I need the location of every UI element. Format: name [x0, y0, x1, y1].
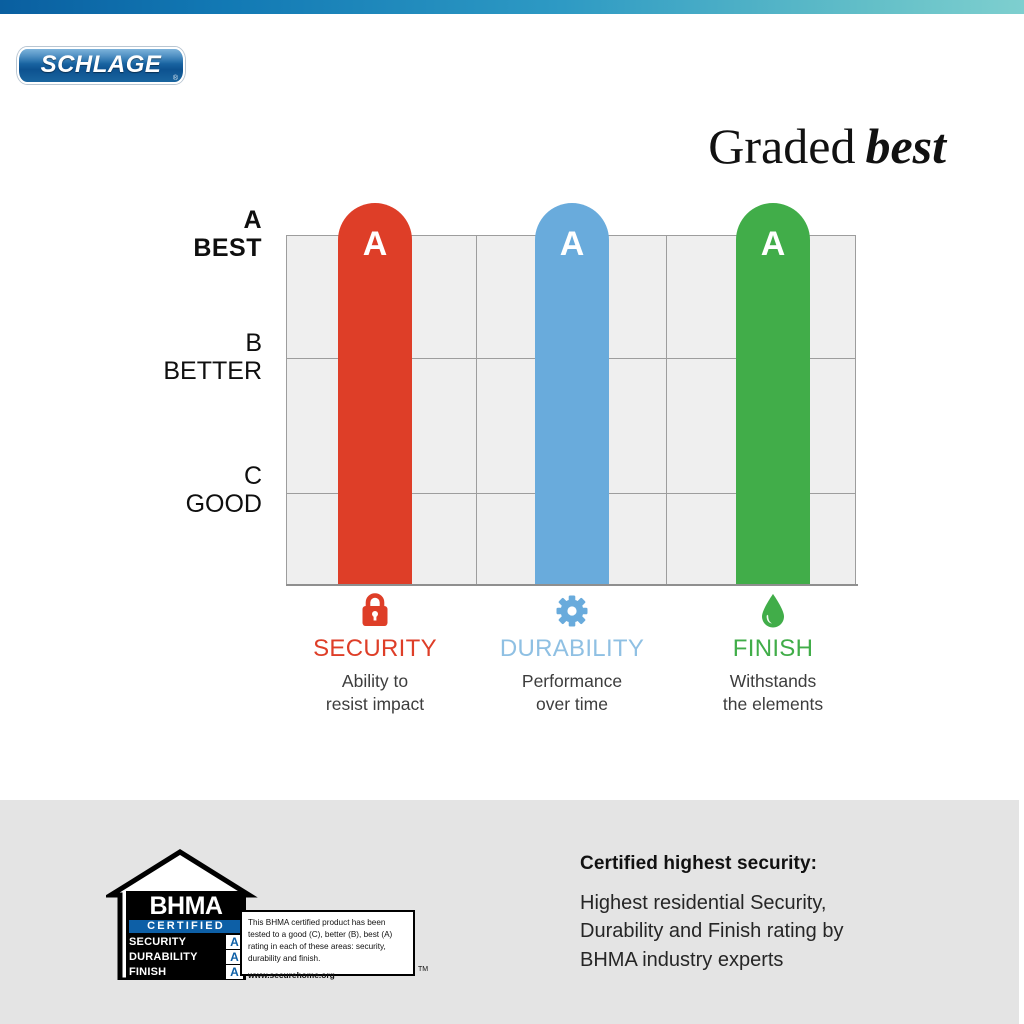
- y-axis-grade-c: C: [62, 462, 262, 490]
- footer-body-line1: Highest residential Security,: [580, 889, 980, 917]
- bhma-certified-mark: BHMA CERTIFIED SECURITY A DURABILITY A F…: [106, 848, 426, 980]
- bhma-wordmark: BHMA: [129, 894, 243, 919]
- bhma-trademark: TM: [418, 966, 428, 973]
- bar-durability: A: [535, 203, 609, 584]
- category-durability: DURABILITY Performance over time: [457, 591, 687, 717]
- y-axis-word-good: GOOD: [62, 490, 262, 518]
- water-drop-icon: [658, 591, 888, 631]
- bhma-row-finish: FINISH A: [129, 965, 243, 979]
- bhma-note-text: This BHMA certified product has been tes…: [248, 918, 392, 963]
- grid-line-vertical-6: [855, 235, 856, 584]
- footer-copy: Certified highest security: Highest resi…: [580, 853, 980, 974]
- category-finish-desc-line1: Withstands: [658, 670, 888, 693]
- padlock-icon: [260, 591, 490, 631]
- category-security-desc-line1: Ability to: [260, 670, 490, 693]
- grid-line-vertical-0: [286, 235, 287, 584]
- category-security-desc-line2: resist impact: [260, 693, 490, 716]
- grade-bar-chart: A BEST B BETTER C GOOD A A A: [0, 0, 1024, 800]
- y-axis-label-c: C GOOD: [62, 462, 262, 518]
- category-durability-title: DURABILITY: [457, 635, 687, 663]
- bhma-row-finish-label: FINISH: [129, 965, 226, 979]
- y-axis-grade-a: A: [62, 206, 262, 234]
- footer-body: Highest residential Security, Durability…: [580, 889, 980, 974]
- category-durability-desc-line1: Performance: [457, 670, 687, 693]
- bhma-url[interactable]: www.securehome.org: [248, 969, 407, 981]
- y-axis-word-better: BETTER: [62, 357, 262, 385]
- category-security-title: SECURITY: [260, 635, 490, 663]
- bhma-grade-box: BHMA CERTIFIED SECURITY A DURABILITY A F…: [126, 891, 246, 980]
- chart-baseline: [286, 584, 858, 586]
- gear-icon: [457, 591, 687, 631]
- y-axis-grade-b: B: [62, 329, 262, 357]
- footer-body-line3: BHMA industry experts: [580, 946, 980, 974]
- grid-line-vertical-2: [476, 235, 477, 584]
- bar-durability-grade: A: [535, 225, 609, 264]
- y-axis-label-a: A BEST: [62, 206, 262, 262]
- bar-finish-grade: A: [736, 225, 810, 264]
- footer-heading: Certified highest security:: [580, 853, 980, 875]
- bar-security: A: [338, 203, 412, 584]
- footer-body-line2: Durability and Finish rating by: [580, 917, 980, 945]
- bhma-certified-band: CERTIFIED: [129, 920, 243, 933]
- category-finish-title: FINISH: [658, 635, 888, 663]
- bhma-note-box: This BHMA certified product has been tes…: [240, 910, 415, 976]
- category-durability-desc: Performance over time: [457, 670, 687, 717]
- y-axis-label-b: B BETTER: [62, 329, 262, 385]
- category-finish-desc-line2: the elements: [658, 693, 888, 716]
- bhma-row-durability: DURABILITY A: [129, 950, 243, 964]
- bar-security-grade: A: [338, 225, 412, 264]
- bhma-row-durability-label: DURABILITY: [129, 950, 226, 964]
- category-security: SECURITY Ability to resist impact: [260, 591, 490, 717]
- grid-line-vertical-4: [666, 235, 667, 584]
- category-finish-desc: Withstands the elements: [658, 670, 888, 717]
- y-axis-word-best: BEST: [62, 234, 262, 262]
- bhma-row-security: SECURITY A: [129, 935, 243, 949]
- bhma-row-security-label: SECURITY: [129, 935, 226, 949]
- category-finish: FINISH Withstands the elements: [658, 591, 888, 717]
- bar-finish: A: [736, 203, 810, 584]
- category-durability-desc-line2: over time: [457, 693, 687, 716]
- category-security-desc: Ability to resist impact: [260, 670, 490, 717]
